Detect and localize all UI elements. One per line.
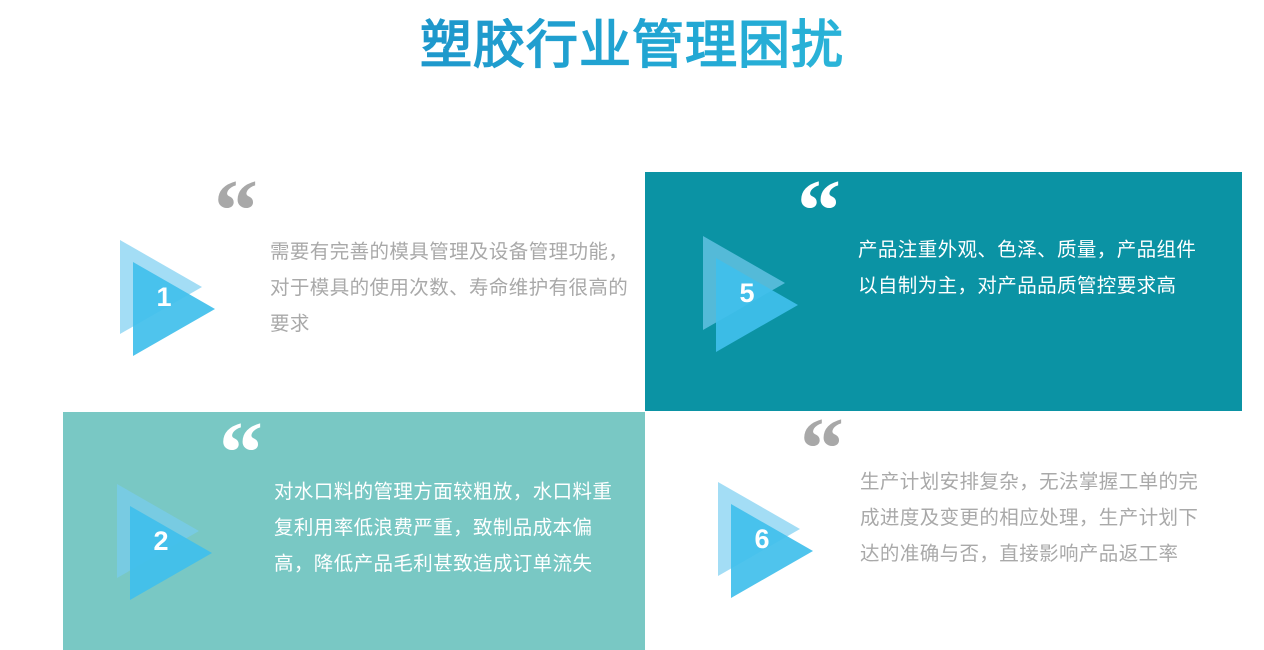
card-number: 5 [730, 280, 764, 307]
arrow-badge-6: 6 [718, 482, 828, 600]
card-text: 需要有完善的模具管理及设备管理功能，对于模具的使用次数、寿命维护有很高的要求 [270, 234, 632, 342]
card-5: 5 “ 产品注重外观、色泽、质量，产品组件以自制为主，对产品品质管控要求高 [645, 172, 1242, 411]
page-title: 塑胶行业管理困扰 [0, 18, 1264, 75]
quote-open-icon: “ [797, 168, 839, 256]
quote-open-icon: “ [214, 168, 256, 256]
card-number: 6 [745, 526, 779, 553]
quote-open-icon: “ [219, 410, 261, 498]
card-2: 2 “ 对水口料的管理方面较粗放，水口料重复利用率低浪费严重，致制品成本偏高，降… [63, 412, 645, 650]
card-number: 1 [147, 284, 181, 311]
arrow-badge-2: 2 [117, 484, 227, 602]
quote-open-icon: “ [800, 406, 842, 494]
card-number: 2 [144, 528, 178, 555]
card-6: 6 “ 生产计划安排复杂，无法掌握工单的完成进度及变更的相应处理，生产计划下达的… [690, 420, 1250, 650]
card-text: 对水口料的管理方面较粗放，水口料重复利用率低浪费严重，致制品成本偏高，降低产品毛… [274, 474, 630, 582]
card-text: 生产计划安排复杂，无法掌握工单的完成进度及变更的相应处理，生产计划下达的准确与否… [860, 464, 1215, 572]
card-1: 1 “ 需要有完善的模具管理及设备管理功能，对于模具的使用次数、寿命维护有很高的… [110, 172, 645, 412]
card-text: 产品注重外观、色泽、质量，产品组件以自制为主，对产品品质管控要求高 [858, 232, 1206, 304]
